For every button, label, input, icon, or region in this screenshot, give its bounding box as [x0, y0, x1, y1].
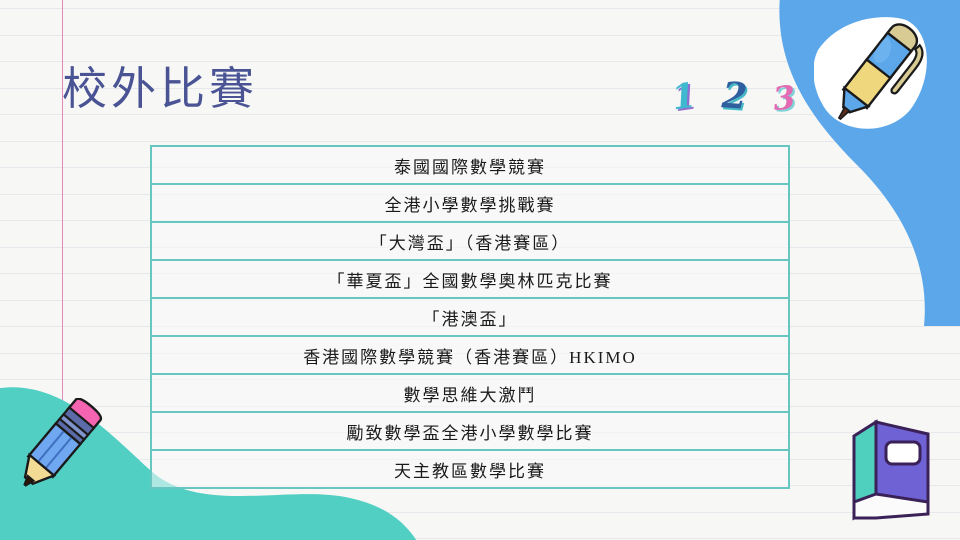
table-row: 「港澳盃」 — [151, 298, 789, 336]
pen-icon — [814, 14, 942, 136]
table-row: 數學思維大激鬥 — [151, 374, 789, 412]
slide-canvas: 校外比賽 1 2 3 泰國國際數學競賽全港小學數學挑戰賽「大灣盃」（香港賽區）「… — [0, 0, 960, 540]
doodle-digit-one: 1 — [670, 79, 698, 116]
pencil-icon — [8, 398, 114, 502]
competition-name-cell: 「華夏盃」全國數學奧林匹克比賽 — [151, 260, 789, 298]
competition-name-cell: 數學思維大激鬥 — [151, 374, 789, 412]
competition-name-cell: 全港小學數學挑戰賽 — [151, 184, 789, 222]
table-row: 泰國國際數學競賽 — [151, 146, 789, 184]
competition-table: 泰國國際數學競賽全港小學數學挑戰賽「大灣盃」（香港賽區）「華夏盃」全國數學奧林匹… — [150, 145, 790, 489]
competition-name-cell: 「大灣盃」（香港賽區） — [151, 222, 789, 260]
table-row: 香港國際數學競賽（香港賽區）HKIMO — [151, 336, 789, 374]
competition-name-cell: 勵致數學盃全港小學數學比賽 — [151, 412, 789, 450]
doodle-digit-two: 2 — [720, 77, 748, 115]
competition-name-cell: 香港國際數學競賽（香港賽區）HKIMO — [151, 336, 789, 374]
number-doodles: 1 2 3 — [672, 78, 795, 114]
table-row: 「大灣盃」（香港賽區） — [151, 222, 789, 260]
page-title: 校外比賽 — [62, 64, 258, 116]
competition-name-cell: 泰國國際數學競賽 — [151, 146, 789, 184]
table-row: 勵致數學盃全港小學數學比賽 — [151, 412, 789, 450]
competition-name-cell: 天主教區數學比賽 — [151, 450, 789, 488]
doodle-digit-three: 3 — [771, 81, 796, 115]
table-row: 天主教區數學比賽 — [151, 450, 789, 488]
competition-name-cell: 「港澳盃」 — [151, 298, 789, 336]
book-icon — [838, 414, 942, 522]
table-row: 全港小學數學挑戰賽 — [151, 184, 789, 222]
table-row: 「華夏盃」全國數學奧林匹克比賽 — [151, 260, 789, 298]
